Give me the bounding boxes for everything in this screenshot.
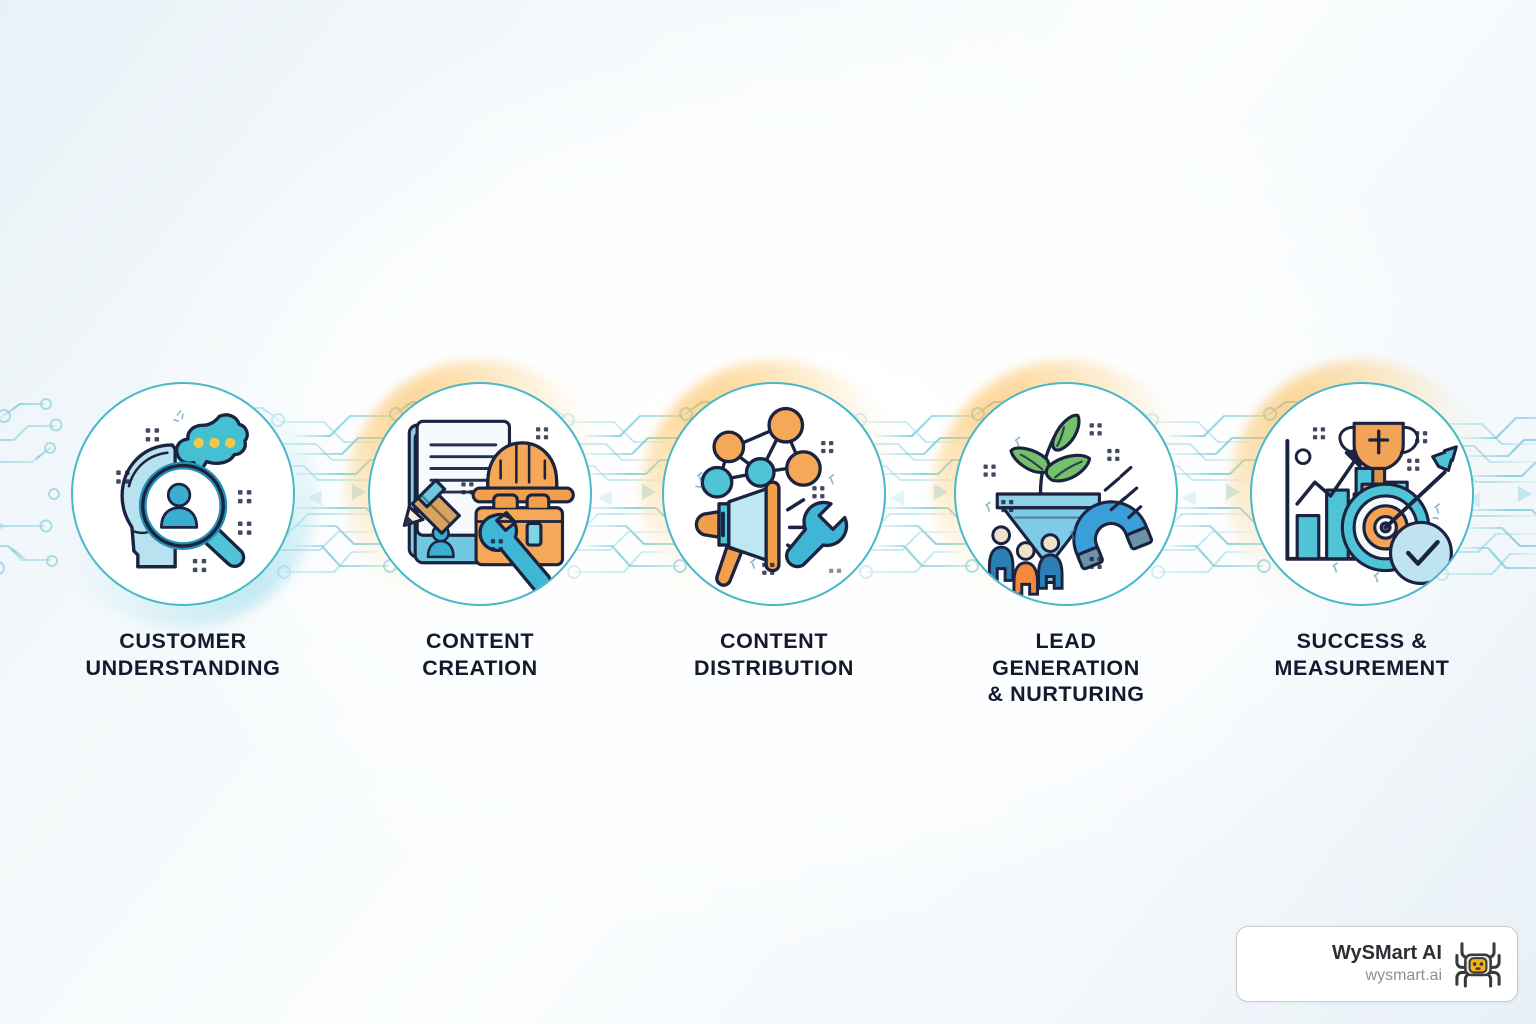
step-label-line2: MEASUREMENT <box>1212 655 1512 682</box>
infographic-canvas: CUSTOMER UNDERSTANDING <box>0 0 1536 1024</box>
step-icon-wrap <box>368 382 592 606</box>
brand-name: WySMart AI <box>1332 942 1442 965</box>
icon-circle <box>368 382 592 606</box>
step-customer-understanding[interactable]: CUSTOMER UNDERSTANDING <box>33 382 333 681</box>
step-label-line1: CONTENT <box>330 628 630 655</box>
icon-circle <box>662 382 886 606</box>
icon-circle <box>71 382 295 606</box>
step-label-line3: & NURTURING <box>916 681 1216 708</box>
icon-circle <box>954 382 1178 606</box>
step-content-creation[interactable]: CONTENT CREATION <box>330 382 630 681</box>
network-megaphone-wrench-icon <box>664 384 884 604</box>
head-magnifier-speech-bubble-icon <box>73 384 293 604</box>
step-label: SUCCESS & MEASUREMENT <box>1212 628 1512 681</box>
icon-circle <box>1250 382 1474 606</box>
step-label: LEAD GENERATION & NURTURING <box>916 628 1216 708</box>
step-label-line1: CONTENT <box>624 628 924 655</box>
step-content-distribution[interactable]: CONTENT DISTRIBUTION <box>624 382 924 681</box>
step-label-line2: GENERATION <box>916 655 1216 682</box>
documents-pencil-hardhat-toolbox-icon <box>370 384 590 604</box>
brand-url: wysmart.ai <box>1332 966 1442 987</box>
brand-text: WySMart AI wysmart.ai <box>1332 942 1442 987</box>
brand-badge[interactable]: WySMart AI wysmart.ai <box>1236 926 1518 1002</box>
step-icon-wrap <box>1250 382 1474 606</box>
step-lead-generation-nurturing[interactable]: LEAD GENERATION & NURTURING <box>916 382 1216 708</box>
step-icon-wrap <box>71 382 295 606</box>
step-label-line2: UNDERSTANDING <box>33 655 333 682</box>
funnel-plant-magnet-people-icon <box>956 384 1176 604</box>
step-label: CUSTOMER UNDERSTANDING <box>33 628 333 681</box>
chart-trophy-target-check-icon <box>1252 384 1472 604</box>
step-label-line1: CUSTOMER <box>33 628 333 655</box>
step-label-line2: CREATION <box>330 655 630 682</box>
wysmart-spider-robot-logo <box>1451 937 1505 991</box>
step-label-line1: SUCCESS & <box>1212 628 1512 655</box>
step-icon-wrap <box>662 382 886 606</box>
step-label: CONTENT CREATION <box>330 628 630 681</box>
step-label: CONTENT DISTRIBUTION <box>624 628 924 681</box>
step-label-line1: LEAD <box>916 628 1216 655</box>
step-success-measurement[interactable]: SUCCESS & MEASUREMENT <box>1212 382 1512 681</box>
step-label-line2: DISTRIBUTION <box>624 655 924 682</box>
step-icon-wrap <box>954 382 1178 606</box>
